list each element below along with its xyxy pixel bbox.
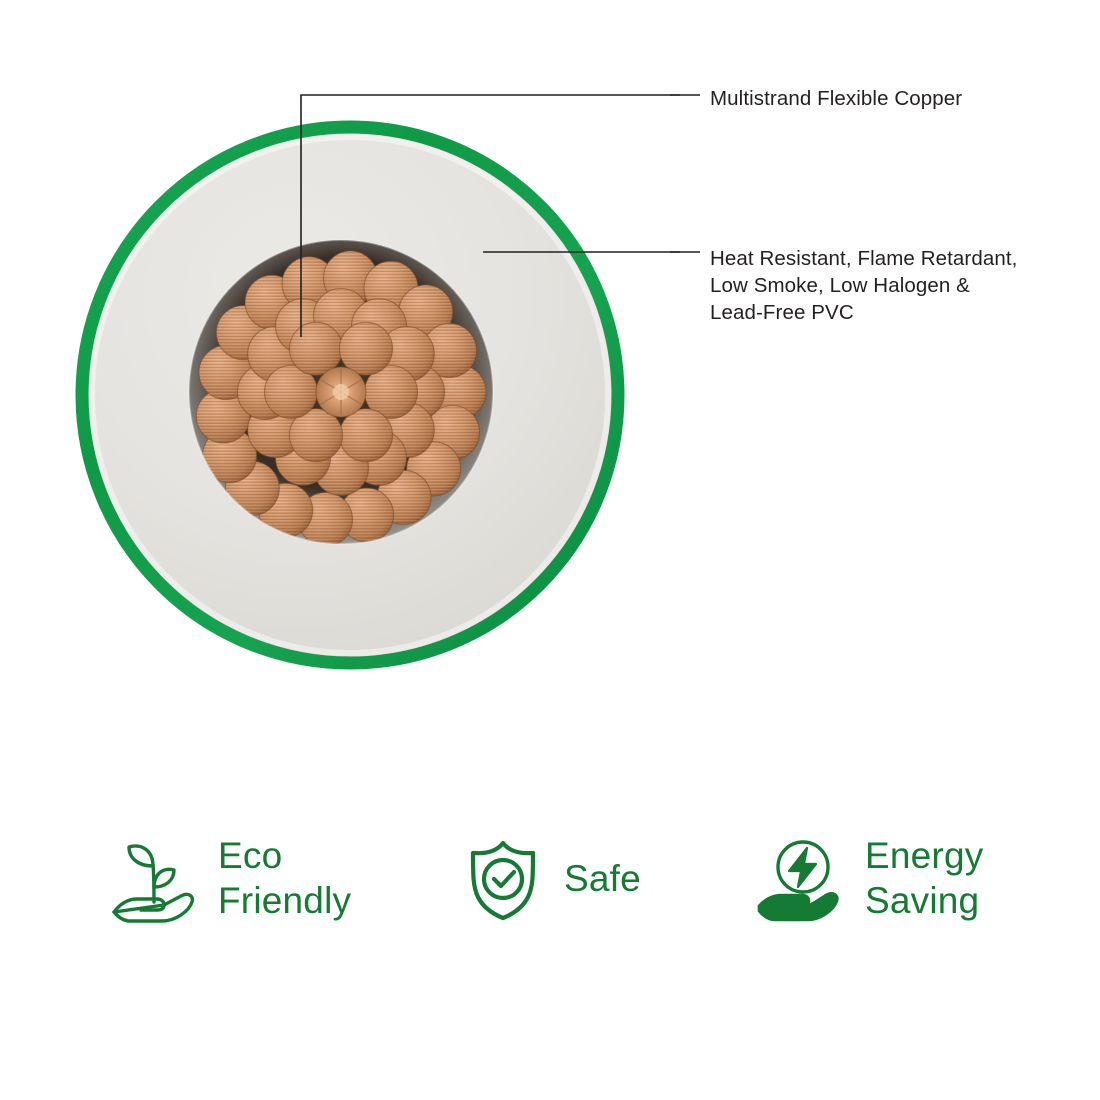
feature-badge-strip: Eco Friendly Safe Energy Saving <box>100 818 1040 938</box>
feature-safe[interactable]: Safe <box>460 818 641 938</box>
feature-label-energy-saving: Energy Saving <box>865 833 983 923</box>
feature-label-eco-friendly: Eco Friendly <box>218 833 351 923</box>
cable-cross-section-diagram <box>60 60 680 700</box>
feature-label-safe: Safe <box>564 856 641 901</box>
callout-label-pvc: Heat Resistant, Flame Retardant, Low Smo… <box>710 245 1017 326</box>
infographic-canvas: Multistrand Flexible Copper Heat Resista… <box>0 0 1100 1100</box>
shield-check-icon <box>460 835 546 921</box>
hand-holding-plant-icon <box>108 832 200 924</box>
feature-eco-friendly[interactable]: Eco Friendly <box>108 818 351 938</box>
strand-center <box>316 367 366 417</box>
feature-energy-saving[interactable]: Energy Saving <box>755 818 983 938</box>
hand-holding-lightning-icon <box>755 832 847 924</box>
callout-label-copper: Multistrand Flexible Copper <box>710 85 962 112</box>
